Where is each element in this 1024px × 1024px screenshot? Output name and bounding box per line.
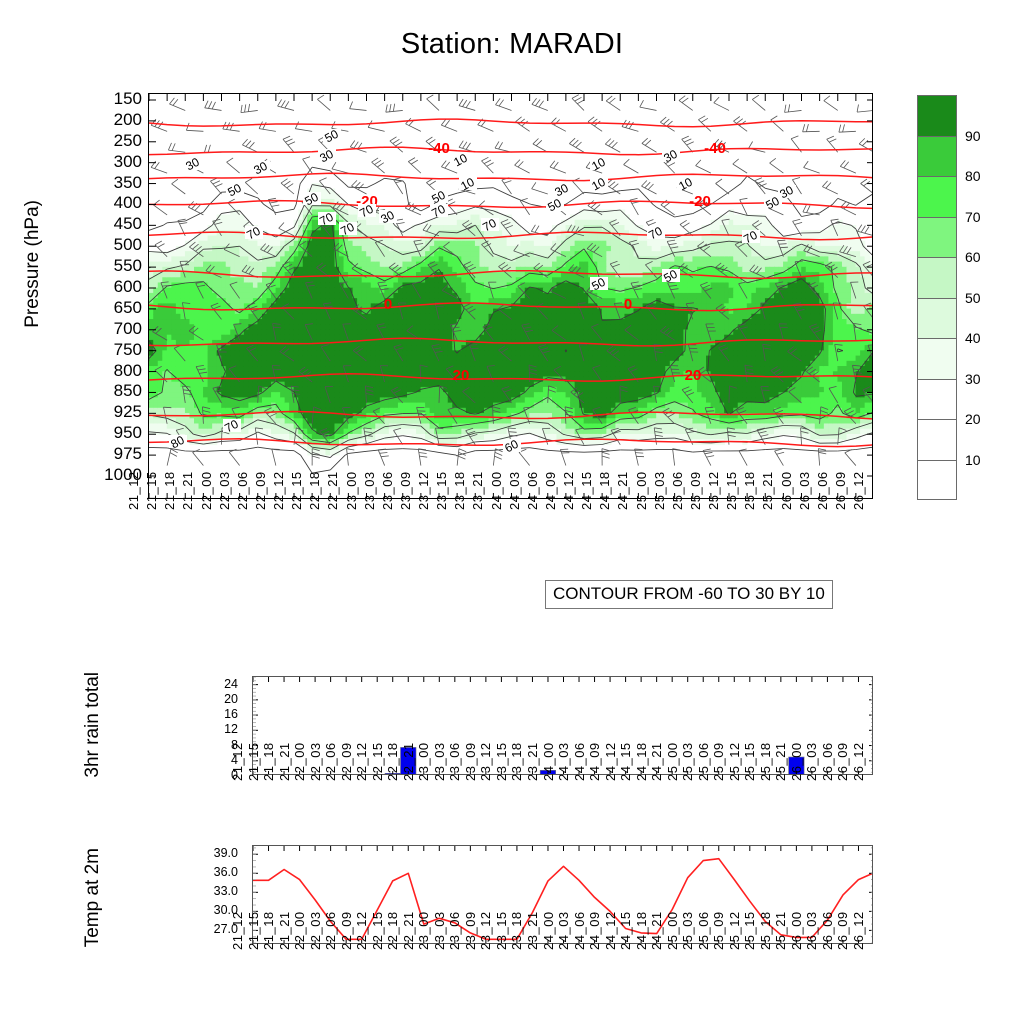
xaxis-tick-label: 24_21 bbox=[649, 911, 664, 950]
xaxis-tick-label: 26_12 bbox=[851, 742, 866, 781]
xaxis-tick-label: 22_03 bbox=[217, 471, 232, 510]
xaxis-tick-label: 22_06 bbox=[235, 471, 250, 510]
time-height-plot[interactable]: -40-40-20-200020203030503050507070707070… bbox=[148, 93, 873, 499]
xaxis-tick-label: 22_09 bbox=[253, 471, 268, 510]
rain-tick-label: 16 bbox=[224, 707, 238, 721]
colorbar-tick-label: 40 bbox=[965, 330, 981, 346]
xaxis-tick-label: 22_03 bbox=[308, 911, 323, 950]
xaxis-tick-label: 25_21 bbox=[773, 911, 788, 950]
xaxis-tick-label: 23_06 bbox=[447, 742, 462, 781]
pressure-tick-label: 975 bbox=[114, 444, 142, 464]
xaxis-tick-label: 26_03 bbox=[804, 742, 819, 781]
xaxis-tick-label: 26_09 bbox=[835, 742, 850, 781]
main-yaxis-title: Pressure (hPa) bbox=[22, 200, 44, 328]
xaxis-tick-label: 25_12 bbox=[727, 911, 742, 950]
xaxis-tick-label: 24_00 bbox=[489, 471, 504, 510]
xaxis-tick-label: 23_03 bbox=[362, 471, 377, 510]
pressure-tick-label: 200 bbox=[114, 110, 142, 130]
xaxis-tick-label: 22_06 bbox=[323, 742, 338, 781]
pressure-tick-label: 550 bbox=[114, 256, 142, 276]
xaxis-tick-label: 23_18 bbox=[509, 742, 524, 781]
xaxis-tick-label: 22_00 bbox=[292, 742, 307, 781]
xaxis-tick-label: 25_15 bbox=[742, 742, 757, 781]
xaxis-tick-label: 23_18 bbox=[509, 911, 524, 950]
colorbar-band bbox=[917, 298, 957, 339]
xaxis-tick-label: 25_12 bbox=[727, 742, 742, 781]
colorbar-tick-label: 80 bbox=[965, 168, 981, 184]
temp-panel-title: Temp at 2m bbox=[82, 848, 104, 947]
xaxis-tick-label: 22_18 bbox=[385, 911, 400, 950]
xaxis-tick-label: 26_09 bbox=[833, 471, 848, 510]
xaxis-tick-label: 24_06 bbox=[525, 471, 540, 510]
colorbar-tick-label: 70 bbox=[965, 209, 981, 225]
xaxis-tick-label: 26_00 bbox=[789, 742, 804, 781]
colorbar-tick-label: 50 bbox=[965, 290, 981, 306]
xaxis-tick-label: 22_03 bbox=[308, 742, 323, 781]
xaxis-tick-label: 26_03 bbox=[804, 911, 819, 950]
xaxis-tick-label: 24_09 bbox=[587, 742, 602, 781]
xaxis-tick-label: 22_15 bbox=[289, 471, 304, 510]
pressure-tick-label: 850 bbox=[114, 381, 142, 401]
pressure-tick-label: 925 bbox=[114, 402, 142, 422]
xaxis-tick-label: 25_15 bbox=[724, 471, 739, 510]
xaxis-tick-label: 22_12 bbox=[271, 471, 286, 510]
xaxis-tick-label: 21_12 bbox=[230, 742, 245, 781]
xaxis-tick-label: 24_06 bbox=[572, 742, 587, 781]
xaxis-tick-label: 21_18 bbox=[261, 911, 276, 950]
xaxis-tick-label: 25_18 bbox=[758, 742, 773, 781]
xaxis-tick-label: 25_00 bbox=[634, 471, 649, 510]
xaxis-tick-label: 25_03 bbox=[652, 471, 667, 510]
xaxis-tick-label: 22_09 bbox=[339, 742, 354, 781]
colorbar-band bbox=[917, 379, 957, 420]
xaxis-tick-label: 26_12 bbox=[851, 911, 866, 950]
xaxis-tick-label: 24_12 bbox=[603, 742, 618, 781]
pressure-tick-label: 450 bbox=[114, 214, 142, 234]
xaxis-tick-label: 25_09 bbox=[688, 471, 703, 510]
colorbar-band bbox=[917, 419, 957, 460]
colorbar-tick-label: 20 bbox=[965, 411, 981, 427]
xaxis-tick-label: 24_18 bbox=[634, 742, 649, 781]
xaxis-tick-label: 26_00 bbox=[789, 911, 804, 950]
xaxis-tick-label: 21_21 bbox=[277, 911, 292, 950]
xaxis-tick-label: 24_15 bbox=[618, 911, 633, 950]
xaxis-tick-label: 24_12 bbox=[603, 911, 618, 950]
xaxis-tick-label: 25_09 bbox=[711, 742, 726, 781]
pressure-tick-label: 400 bbox=[114, 193, 142, 213]
xaxis-tick-label: 24_03 bbox=[556, 911, 571, 950]
colorbar-band bbox=[917, 136, 957, 177]
xaxis-tick-label: 23_15 bbox=[494, 742, 509, 781]
xaxis-tick-label: 22_21 bbox=[401, 911, 416, 950]
xaxis-tick-label: 22_15 bbox=[370, 742, 385, 781]
xaxis-tick-label: 23_09 bbox=[463, 742, 478, 781]
xaxis-tick-label: 24_18 bbox=[634, 911, 649, 950]
xaxis-tick-label: 25_18 bbox=[758, 911, 773, 950]
xaxis-tick-label: 24_03 bbox=[556, 742, 571, 781]
xaxis-tick-label: 21_18 bbox=[162, 471, 177, 510]
xaxis-tick-label: 25_06 bbox=[670, 471, 685, 510]
xaxis-tick-label: 24_18 bbox=[597, 471, 612, 510]
rain-tick-label: 12 bbox=[224, 722, 238, 736]
xaxis-tick-label: 25_03 bbox=[680, 742, 695, 781]
pressure-tick-label: 650 bbox=[114, 298, 142, 318]
xaxis-tick-label: 23_21 bbox=[525, 742, 540, 781]
pressure-tick-label: 700 bbox=[114, 319, 142, 339]
colorbar-band bbox=[917, 95, 957, 136]
xaxis-tick-label: 23_12 bbox=[478, 911, 493, 950]
pressure-tick-label: 500 bbox=[114, 235, 142, 255]
temp-tick-label: 36.0 bbox=[214, 865, 238, 879]
xaxis-tick-label: 25_03 bbox=[680, 911, 695, 950]
xaxis-tick-label: 25_12 bbox=[706, 471, 721, 510]
xaxis-tick-label: 23_00 bbox=[344, 471, 359, 510]
pressure-tick-label: 300 bbox=[114, 152, 142, 172]
colorbar-band bbox=[917, 338, 957, 379]
colorbar-band bbox=[917, 460, 957, 501]
xaxis-tick-label: 23_12 bbox=[416, 471, 431, 510]
rain-tick-label: 20 bbox=[224, 692, 238, 706]
xaxis-tick-label: 22_18 bbox=[307, 471, 322, 510]
pressure-tick-label: 950 bbox=[114, 423, 142, 443]
xaxis-tick-label: 25_00 bbox=[665, 911, 680, 950]
xaxis-tick-label: 23_00 bbox=[416, 742, 431, 781]
xaxis-tick-label: 22_12 bbox=[354, 742, 369, 781]
xaxis-tick-label: 26_00 bbox=[779, 471, 794, 510]
xaxis-tick-label: 22_21 bbox=[401, 742, 416, 781]
xaxis-tick-label: 25_21 bbox=[760, 471, 775, 510]
xaxis-tick-label: 24_03 bbox=[507, 471, 522, 510]
xaxis-tick-label: 23_03 bbox=[432, 911, 447, 950]
xaxis-tick-label: 22_18 bbox=[385, 742, 400, 781]
xaxis-tick-label: 24_09 bbox=[543, 471, 558, 510]
xaxis-tick-label: 21_18 bbox=[261, 742, 276, 781]
xaxis-tick-label: 24_06 bbox=[572, 911, 587, 950]
xaxis-tick-label: 26_06 bbox=[820, 742, 835, 781]
colorbar-band bbox=[917, 257, 957, 298]
colorbar-tick-label: 90 bbox=[965, 128, 981, 144]
xaxis-tick-label: 23_21 bbox=[470, 471, 485, 510]
xaxis-tick-label: 21_21 bbox=[277, 742, 292, 781]
xaxis-tick-label: 24_00 bbox=[541, 742, 556, 781]
xaxis-tick-label: 24_15 bbox=[579, 471, 594, 510]
colorbar-tick-label: 30 bbox=[965, 371, 981, 387]
xaxis-tick-label: 25_21 bbox=[773, 742, 788, 781]
xaxis-tick-label: 21_15 bbox=[246, 742, 261, 781]
xaxis-tick-label: 25_00 bbox=[665, 742, 680, 781]
xaxis-tick-label: 25_06 bbox=[696, 911, 711, 950]
xaxis-tick-label: 24_21 bbox=[649, 742, 664, 781]
pressure-tick-label: 350 bbox=[114, 173, 142, 193]
pressure-tick-label: 750 bbox=[114, 340, 142, 360]
pressure-tick-label: 600 bbox=[114, 277, 142, 297]
pressure-tick-label: 150 bbox=[114, 89, 142, 109]
xaxis-tick-label: 24_09 bbox=[587, 911, 602, 950]
rain-panel-title: 3hr rain total bbox=[82, 672, 104, 778]
page-title: Station: MARADI bbox=[0, 28, 1024, 61]
colorbar: 908070605040302010 bbox=[917, 95, 957, 500]
xaxis-tick-label: 26_12 bbox=[851, 471, 866, 510]
xaxis-tick-label: 23_21 bbox=[525, 911, 540, 950]
xaxis-tick-label: 23_06 bbox=[380, 471, 395, 510]
colorbar-band bbox=[917, 217, 957, 258]
xaxis-tick-label: 24_21 bbox=[615, 471, 630, 510]
xaxis-tick-label: 22_15 bbox=[370, 911, 385, 950]
xaxis-tick-label: 22_12 bbox=[354, 911, 369, 950]
xaxis-tick-label: 21_15 bbox=[246, 911, 261, 950]
xaxis-tick-label: 24_00 bbox=[541, 911, 556, 950]
xaxis-tick-label: 25_18 bbox=[742, 471, 757, 510]
rain-tick-label: 24 bbox=[224, 677, 238, 691]
xaxis-tick-label: 21_15 bbox=[144, 471, 159, 510]
colorbar-band bbox=[917, 176, 957, 217]
xaxis-tick-label: 23_09 bbox=[463, 911, 478, 950]
xaxis-tick-label: 22_06 bbox=[323, 911, 338, 950]
pressure-tick-label: 800 bbox=[114, 361, 142, 381]
xaxis-tick-label: 24_12 bbox=[561, 471, 576, 510]
temp-tick-label: 39.0 bbox=[214, 846, 238, 860]
xaxis-tick-label: 26_09 bbox=[835, 911, 850, 950]
xaxis-tick-label: 23_06 bbox=[447, 911, 462, 950]
xaxis-tick-label: 26_06 bbox=[815, 471, 830, 510]
xaxis-tick-label: 26_06 bbox=[820, 911, 835, 950]
xaxis-tick-label: 22_09 bbox=[339, 911, 354, 950]
pressure-tick-label: 250 bbox=[114, 131, 142, 151]
xaxis-tick-label: 23_15 bbox=[494, 911, 509, 950]
xaxis-tick-label: 23_00 bbox=[416, 911, 431, 950]
xaxis-tick-label: 26_03 bbox=[797, 471, 812, 510]
xaxis-tick-label: 21_12 bbox=[230, 911, 245, 950]
xaxis-tick-label: 25_06 bbox=[696, 742, 711, 781]
colorbar-tick-label: 10 bbox=[965, 452, 981, 468]
xaxis-tick-label: 22_00 bbox=[199, 471, 214, 510]
xaxis-tick-label: 25_09 bbox=[711, 911, 726, 950]
xaxis-tick-label: 21_21 bbox=[180, 471, 195, 510]
xaxis-tick-label: 25_15 bbox=[742, 911, 757, 950]
colorbar-tick-label: 60 bbox=[965, 249, 981, 265]
xaxis-tick-label: 23_18 bbox=[452, 471, 467, 510]
main-yaxis: 1502002503003504004505005506006507007508… bbox=[60, 93, 142, 499]
xaxis-tick-label: 23_03 bbox=[432, 742, 447, 781]
xaxis-tick-label: 22_00 bbox=[292, 911, 307, 950]
xaxis-tick-label: 23_12 bbox=[478, 742, 493, 781]
xaxis-tick-label: 24_15 bbox=[618, 742, 633, 781]
temp-tick-label: 33.0 bbox=[214, 884, 238, 898]
xaxis-tick-label: 23_15 bbox=[434, 471, 449, 510]
contour-note: CONTOUR FROM -60 TO 30 BY 10 bbox=[545, 580, 833, 609]
xaxis-tick-label: 22_21 bbox=[325, 471, 340, 510]
xaxis-tick-label: 21_12 bbox=[126, 471, 141, 510]
xaxis-tick-label: 23_09 bbox=[398, 471, 413, 510]
